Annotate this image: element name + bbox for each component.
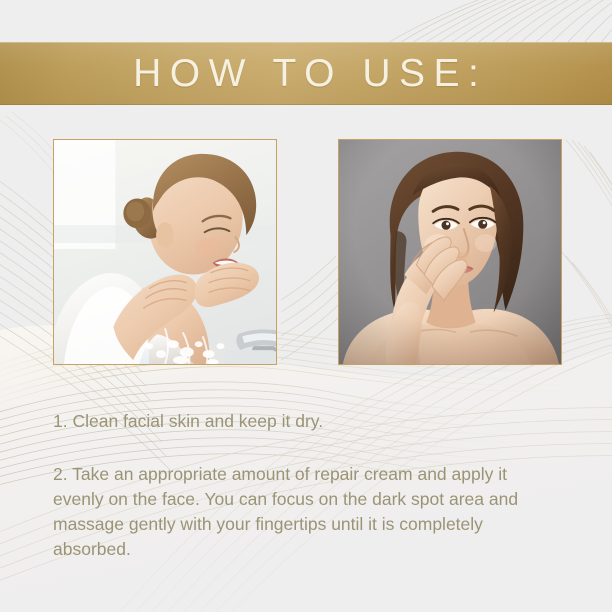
instruction-step-2: 2. Take an appropriate amount of repair … (53, 462, 539, 562)
instruction-step-1: 1. Clean facial skin and keep it dry. (53, 409, 551, 434)
page-title: HOW TO USE: (0, 42, 612, 105)
photo-row (0, 139, 612, 367)
photo-touching-cheek (338, 139, 562, 365)
how-to-use-banner: HOW TO USE: (0, 0, 612, 612)
instructions-block: 1. Clean facial skin and keep it dry. 2.… (53, 409, 551, 562)
photo-washing-face (53, 139, 277, 365)
